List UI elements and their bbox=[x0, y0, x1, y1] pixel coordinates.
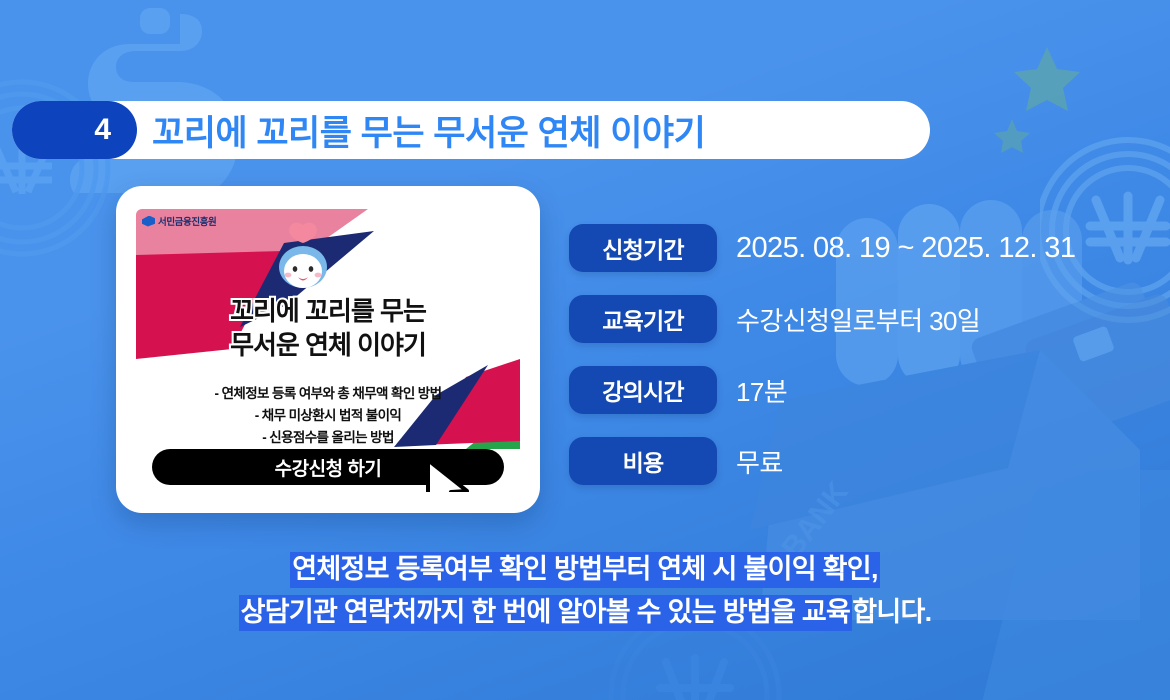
mouse-cursor-icon bbox=[422, 458, 470, 492]
star-decoration-small bbox=[993, 118, 1031, 154]
star-decoration-large bbox=[1012, 45, 1082, 113]
caption-line-1-text: 연체정보 등록여부 확인 방법부터 연체 시 불이익 확인, bbox=[290, 552, 880, 588]
thumbnail-bullet-item: - 연체정보 등록 여부와 총 채무액 확인 방법 bbox=[136, 383, 520, 405]
info-row-application-period: 신청기간 2025. 08. 19 ~ 2025. 12. 31 bbox=[569, 224, 1089, 272]
course-thumbnail-card[interactable]: 서민금융진흥원 꼬리에 꼬리를 무는 무서운 연체 이야기 - 연체정보 등록 … bbox=[116, 186, 540, 513]
info-value-application-period: 2025. 08. 19 ~ 2025. 12. 31 bbox=[736, 232, 1075, 265]
thumbnail-title-line-1: 꼬리에 꼬리를 무는 bbox=[136, 295, 520, 329]
page-title: 꼬리에 꼬리를 무는 무서운 연체 이야기 bbox=[152, 101, 705, 159]
promo-banner: BANK 4 꼬리에 꼬리를 무는 무서운 연체 이야기 bbox=[0, 0, 1170, 700]
info-label-text: 신청기간 bbox=[602, 231, 683, 265]
mascot-character-icon bbox=[272, 221, 334, 289]
section-number-badge: 4 bbox=[12, 101, 137, 159]
caption-line-2-text: 상담기관 연락처까지 한 번에 알아볼 수 있는 방법을 교육 bbox=[239, 595, 853, 631]
section-number: 4 bbox=[94, 115, 111, 145]
info-label-pill: 비용 bbox=[569, 437, 717, 485]
info-label-text: 비용 bbox=[623, 444, 664, 478]
logo-mark-icon bbox=[142, 216, 155, 227]
thumbnail-bullet-list: - 연체정보 등록 여부와 총 채무액 확인 방법 - 채무 미상환시 법적 불… bbox=[136, 383, 520, 449]
thumbnail-title-line-2: 무서운 연체 이야기 bbox=[136, 329, 520, 363]
info-value-lecture-time: 17분 bbox=[736, 372, 787, 409]
caption-line-1: 연체정보 등록여부 확인 방법부터 연체 시 불이익 확인, bbox=[0, 552, 1170, 588]
institution-logo: 서민금융진흥원 bbox=[142, 214, 216, 228]
info-label-text: 강의시간 bbox=[602, 373, 683, 407]
course-description-caption: 연체정보 등록여부 확인 방법부터 연체 시 불이익 확인, 상담기관 연락처까… bbox=[0, 552, 1170, 637]
info-row-cost: 비용 무료 bbox=[569, 437, 1089, 485]
thumbnail-bullet-item: - 신용점수를 올리는 방법 bbox=[136, 427, 520, 449]
page-title-text: 꼬리에 꼬리를 무는 무서운 연체 이야기 bbox=[152, 105, 705, 156]
institution-logo-text: 서민금융진흥원 bbox=[158, 214, 216, 228]
svg-text:BANK: BANK bbox=[776, 475, 856, 564]
info-value-education-period: 수강신청일로부터 30일 bbox=[736, 301, 980, 338]
thumbnail-title: 꼬리에 꼬리를 무는 무서운 연체 이야기 bbox=[136, 295, 520, 363]
info-label-pill: 강의시간 bbox=[569, 366, 717, 414]
info-row-education-period: 교육기간 수강신청일로부터 30일 bbox=[569, 295, 1089, 343]
info-label-pill: 신청기간 bbox=[569, 224, 717, 272]
info-value-cost: 무료 bbox=[736, 443, 783, 480]
caption-line-2: 상담기관 연락처까지 한 번에 알아볼 수 있는 방법을 교육합니다. bbox=[0, 595, 1170, 631]
enroll-button-label: 수강신청 하기 bbox=[275, 454, 382, 481]
course-info-table: 신청기간 2025. 08. 19 ~ 2025. 12. 31 교육기간 수강… bbox=[569, 224, 1089, 485]
caption-line-2-tail: 합니다. bbox=[852, 597, 931, 627]
thumbnail-bullet-item: - 채무 미상환시 법적 불이익 bbox=[136, 405, 520, 427]
info-label-text: 교육기간 bbox=[602, 302, 683, 336]
info-row-lecture-time: 강의시간 17분 bbox=[569, 366, 1089, 414]
coin-decoration-left bbox=[0, 68, 122, 268]
section-header: 4 꼬리에 꼬리를 무는 무서운 연체 이야기 bbox=[12, 101, 930, 159]
info-label-pill: 교육기간 bbox=[569, 295, 717, 343]
course-thumbnail-image: 서민금융진흥원 꼬리에 꼬리를 무는 무서운 연체 이야기 - 연체정보 등록 … bbox=[136, 209, 520, 492]
